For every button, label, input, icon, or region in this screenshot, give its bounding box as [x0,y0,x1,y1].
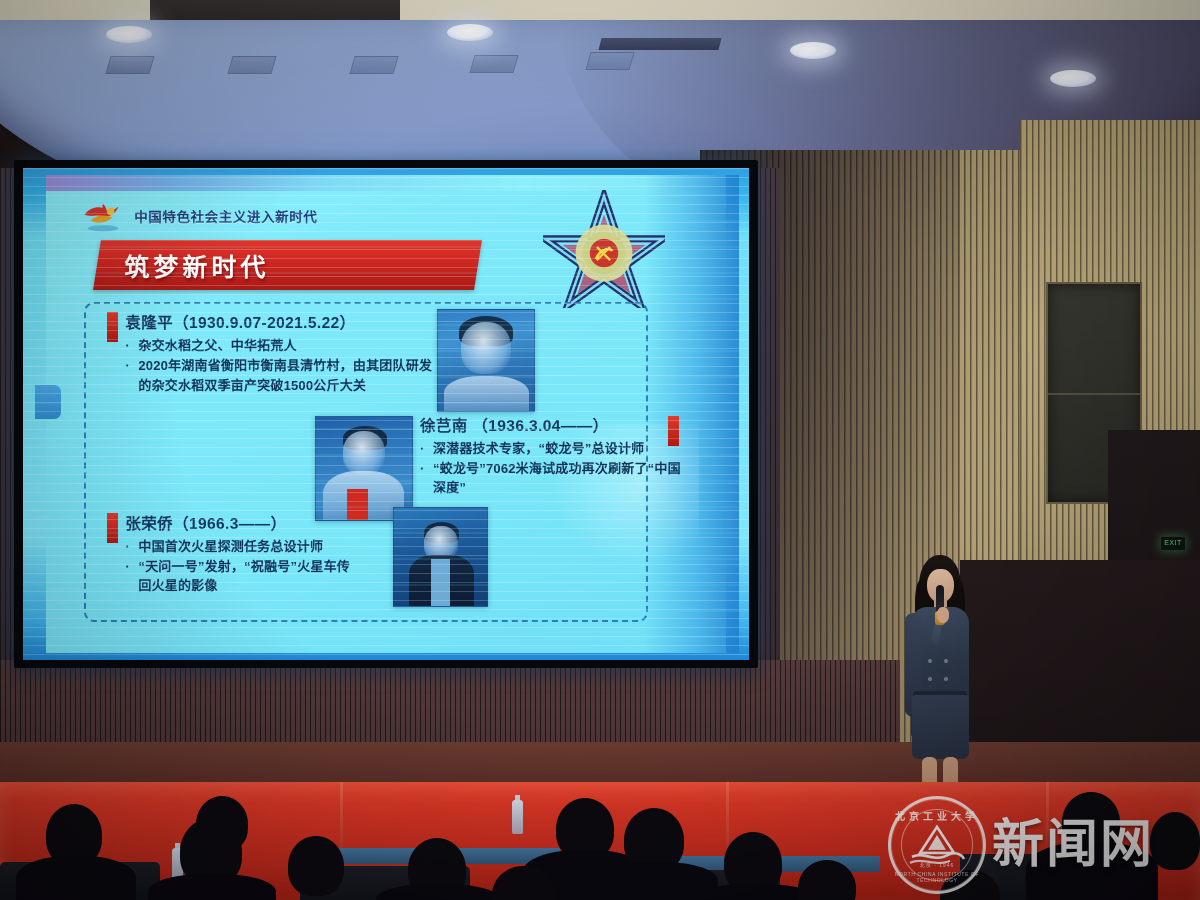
presenter-skirt [912,695,969,759]
screenshot-root: EXIT [0,0,1200,900]
led-screen[interactable]: 中国特色社会主义进入新时代 筑梦新时代 [23,168,749,660]
ac-grille [599,38,722,50]
led-screen-bezel: 中国特色社会主义进入新时代 筑梦新时代 [14,160,758,668]
ceiling-downlight [790,42,836,59]
bullet-dot: · [420,459,433,499]
portrait-photo-zhang-rongqiao [393,507,488,607]
ceiling-vent [105,56,154,74]
bullet-text: 中国首次火星探测任务总设计师 [138,537,323,557]
audience-shoulders [16,856,136,900]
slide-left-tab [35,385,61,419]
seal-established: 北京 · 1946 [891,862,983,869]
slide-banner-title: 筑梦新时代 [124,248,269,284]
bullet-dot: · [125,557,138,597]
audience-head [196,796,248,852]
bullet-dot: · [125,356,138,396]
exit-sign: EXIT [1160,536,1186,551]
person-red-marker [668,416,679,446]
presenter-button [944,659,948,663]
party-emblem-logo-icon [80,199,126,233]
seal-english-name: NORTH CHINA INSTITUTE OF TECHNOLOGY [891,872,983,884]
person-red-marker [107,513,118,543]
photo-face [461,322,511,374]
ceiling-vent [227,56,276,74]
portrait-photo-xu-qinan [315,416,414,521]
bullet-dot: · [420,439,433,459]
water-bottle [512,800,523,834]
ceiling-vent [349,56,398,74]
seal-chinese-name: 北京工业大学 [891,808,983,823]
portrait-photo-yuan-longping [437,309,536,412]
ceiling-vent [585,52,634,70]
slide-header-title: 中国特色社会主义进入新时代 [134,206,317,226]
presenter-button [944,677,948,681]
ceiling-downlight [1050,70,1096,87]
ceiling-downlight [106,26,152,43]
bullet-dot: · [125,336,138,356]
person-bullets: · 深潜器技术专家，“蛟龙号”总设计师 · “蛟龙号”7062米海试成功再次刷新… [420,439,705,498]
bullet-text: 2020年湖南省衡阳市衡南县清竹村，由其团队研发的杂交水稻双季亩产突破1500公… [138,356,438,396]
presenter-button [928,659,932,663]
ceiling-downlight [447,24,493,41]
photo-face [343,431,385,474]
photo-torso [444,376,529,411]
person-red-marker [107,312,118,342]
person-block-xu-qinan: 徐芑南 （1936.3.04——） · 深潜器技术专家，“蛟龙号”总设计师 · … [420,414,705,498]
photo-shirt [431,559,450,606]
watermark: 北京工业大学 北京 · 1946 NORTH CHINA INSTITUTE O… [888,796,1154,894]
audience-head [288,836,344,896]
red-star-party-badge-emblem-icon [543,190,665,308]
watermark-site-name: 新闻网 [992,819,1154,871]
audience-head [1150,812,1200,870]
bullet-text: “天问一号”发射，“祝融号”火星车传回火星的影像 [138,557,354,597]
bullet-text: 杂交水稻之父、中华拓荒人 [138,336,296,356]
slide-header: 中国特色社会主义进入新时代 [80,199,317,233]
university-seal-logo-icon: 北京工业大学 北京 · 1946 NORTH CHINA INSTITUTE O… [888,796,986,894]
presenter-hand [937,607,949,623]
presentation-slide: 中国特色社会主义进入新时代 筑梦新时代 [46,175,726,652]
presenter-button [928,677,932,681]
audience-shoulders [148,874,276,900]
bullet-text: “蛟龙号”7062米海试成功再次刷新了“中国深度” [433,459,681,499]
bullet-item: · “蛟龙号”7062米海试成功再次刷新了“中国深度” [420,459,705,499]
bullet-dot: · [125,537,138,557]
person-name: 徐芑南 （1936.3.04——） [420,414,705,436]
bullet-item: · 深潜器技术专家，“蛟龙号”总设计师 [420,439,705,459]
ceiling-vent [469,55,518,73]
bullet-text: 深潜器技术专家，“蛟龙号”总设计师 [433,439,644,459]
